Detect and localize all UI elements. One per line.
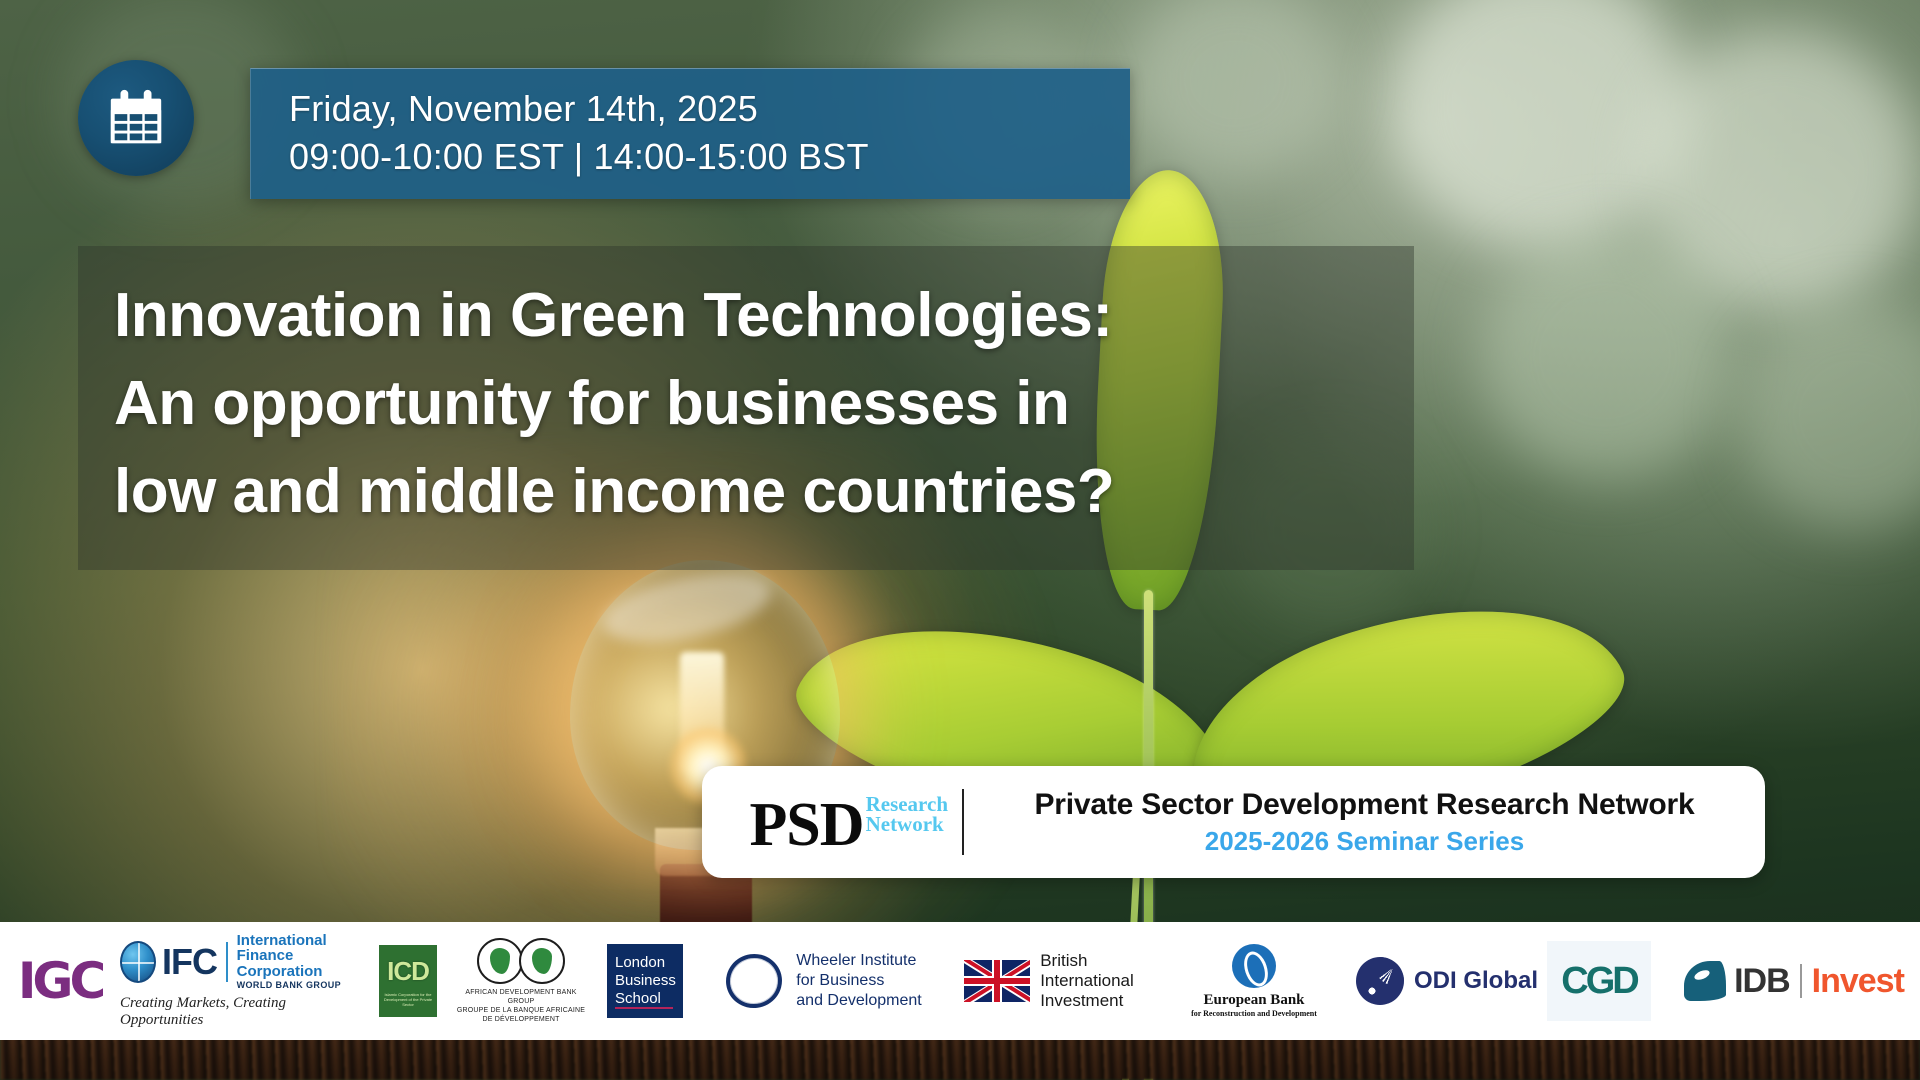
afdb-seal-icon [477, 938, 523, 984]
afdb-logo[interactable]: AFRICAN DEVELOPMENT BANK GROUP GROUPE DE… [456, 922, 586, 1040]
psd-logo: PSD Research Network [702, 766, 954, 878]
ifc-logo[interactable]: IFC International Finance Corporation WO… [120, 922, 360, 1040]
idb-leaf-icon [1684, 961, 1726, 1001]
event-datetime-banner: Friday, November 14th, 2025 09:00-10:00 … [78, 60, 1130, 199]
datetime-box: Friday, November 14th, 2025 09:00-10:00 … [250, 68, 1130, 199]
ebrd-line-2: for Reconstruction and Development [1191, 1009, 1317, 1018]
calendar-icon-circle [78, 60, 194, 176]
afdb-seal-icon-2 [519, 938, 565, 984]
lbs-line-3: School [615, 990, 683, 1008]
wheeler-circle-icon [723, 950, 786, 1011]
lbs-line-1: London [615, 954, 683, 972]
globe-icon [120, 941, 156, 983]
igc-logo-label: IGC [18, 952, 102, 1010]
cgd-logo[interactable]: CGD [1540, 922, 1658, 1040]
title-line-3: low and middle income countries? [114, 448, 1378, 536]
ebrd-mark-icon [1232, 944, 1276, 988]
ifc-line-2: Finance Corporation [237, 948, 360, 979]
ifc-logo-mark: IFC [162, 941, 217, 983]
icd-logo-mark: ICD [387, 956, 429, 987]
cgd-logo-label: CGD [1561, 960, 1636, 1003]
calendar-icon [105, 87, 167, 149]
idb-invest-label: Invest [1812, 962, 1904, 1001]
ifc-line-3: WORLD BANK GROUP [237, 981, 360, 990]
odi-mark-icon [1356, 957, 1404, 1005]
network-name: Private Sector Development Research Netw… [1035, 786, 1695, 824]
icd-logo-caption: Islamic Corporation for the Development … [382, 992, 434, 1007]
afdb-line-3: DE DÉVELOPPEMENT [456, 1015, 586, 1024]
icd-logo[interactable]: ICD Islamic Corporation for the Developm… [360, 922, 456, 1040]
bokeh-circle [1740, 300, 1920, 530]
psd-logo-subtitle-line2: Network [866, 812, 944, 836]
wheeler-line-3: and Development [796, 992, 921, 1009]
title-line-2: An opportunity for businesses in [114, 360, 1378, 448]
idb-invest-logo[interactable]: IDB Invest [1658, 922, 1920, 1040]
london-business-school-logo[interactable]: London Business School [586, 922, 704, 1040]
ebrd-logo[interactable]: European Bank for Reconstruction and Dev… [1154, 922, 1354, 1040]
africa-map-icon [490, 948, 510, 974]
odi-logo-label: ODI Global [1414, 967, 1538, 995]
psd-research-network-card: PSD Research Network Private Sector Deve… [702, 766, 1765, 878]
event-time: 09:00-10:00 EST | 14:00-15:00 BST [289, 133, 1096, 181]
africa-map-icon-2 [532, 948, 552, 974]
psd-card-text: Private Sector Development Research Netw… [990, 786, 1765, 858]
ifc-tagline: Creating Markets, Creating Opportunities [120, 995, 360, 1029]
afdb-line-2: GROUPE DE LA BANQUE AFRICAINE [456, 1006, 586, 1015]
seminar-poster: Friday, November 14th, 2025 09:00-10:00 … [0, 0, 1920, 1080]
event-date: Friday, November 14th, 2025 [289, 85, 1096, 133]
lbs-line-2: Business [615, 972, 683, 990]
psd-logo-subtitle: Research Network [866, 794, 948, 834]
afdb-line-1: AFRICAN DEVELOPMENT BANK GROUP [456, 988, 586, 1006]
partner-logo-bar: IGC IFC International Finance Corporatio… [0, 922, 1920, 1040]
seminar-series-label: 2025-2026 Seminar Series [1205, 824, 1524, 858]
bii-line-1: British [1040, 951, 1087, 970]
odi-global-logo[interactable]: ODI Global [1354, 922, 1540, 1040]
wheeler-line-2: for Business [796, 972, 884, 989]
bii-line-3: Investment [1040, 991, 1123, 1010]
idb-divider [1800, 964, 1802, 998]
igc-logo[interactable]: IGC [0, 922, 120, 1040]
british-international-investment-logo[interactable]: British International Investment [944, 922, 1154, 1040]
wheeler-institute-logo[interactable]: Wheeler Institute for Business and Devel… [704, 922, 944, 1040]
title-line-1: Innovation in Green Technologies: [114, 272, 1378, 360]
ebrd-line-1: European Bank [1203, 992, 1304, 1009]
wheeler-line-1: Wheeler Institute [796, 952, 916, 969]
ifc-divider [226, 942, 228, 982]
bokeh-circle [1130, 0, 1340, 180]
bii-line-2: International [1040, 971, 1134, 990]
psd-logo-letters: PSD [749, 794, 863, 856]
page-title: Innovation in Green Technologies: An opp… [78, 246, 1414, 570]
union-jack-icon [964, 960, 1030, 1002]
lbs-accent-rule [615, 1007, 673, 1009]
psd-card-divider [962, 789, 964, 855]
ifc-line-1: International [237, 933, 360, 948]
idb-logo-label: IDB [1734, 962, 1790, 1001]
soil-strip [0, 1038, 1920, 1080]
